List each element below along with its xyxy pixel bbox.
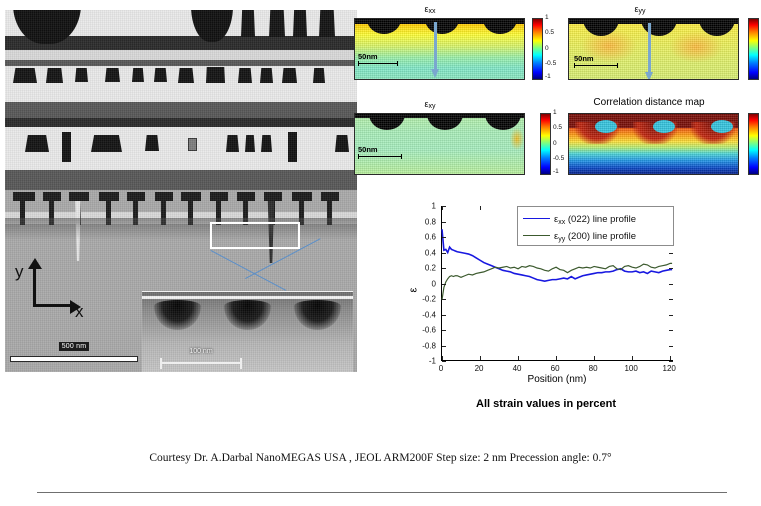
cb-tick: -0.5 bbox=[553, 155, 564, 162]
tem-via bbox=[46, 68, 63, 83]
scalebar-inset: 100 nm bbox=[160, 340, 242, 369]
tem-layer bbox=[5, 170, 357, 190]
x-tick-mark-top bbox=[480, 206, 481, 210]
tem-layer bbox=[5, 118, 357, 127]
map-title-correlation: Correlation distance map bbox=[560, 97, 738, 108]
y-tick-mark bbox=[442, 222, 446, 223]
eyy-scalebar-label: 50nm bbox=[574, 55, 618, 63]
y-tick-mark bbox=[442, 346, 446, 347]
y-tick-mark-right bbox=[669, 361, 673, 362]
y-tick-label: -0.6 bbox=[410, 326, 436, 335]
y-tick-mark bbox=[442, 361, 446, 362]
series-eyy-line bbox=[442, 263, 672, 299]
y-tick-mark-right bbox=[669, 330, 673, 331]
legend-eyy-text: (200) line profile bbox=[565, 231, 636, 242]
tem-via bbox=[206, 67, 225, 83]
legend-swatch-exx bbox=[523, 218, 550, 219]
exx-scalebar-label: 50nm bbox=[358, 53, 398, 61]
y-tick-mark bbox=[442, 237, 446, 238]
x-tick-label: 120 bbox=[663, 364, 676, 373]
legend-item-exx: εxx (022) line profile bbox=[523, 210, 636, 226]
y-tick-mark-right bbox=[669, 346, 673, 347]
y-tick-label: -0.4 bbox=[410, 310, 436, 319]
tem-via bbox=[91, 135, 122, 152]
y-tick-label: 0.6 bbox=[410, 233, 436, 242]
eyy-profile-arrow-icon bbox=[645, 23, 654, 80]
y-axis-arrow-icon bbox=[28, 258, 42, 269]
y-tick-mark-right bbox=[669, 268, 673, 269]
y-tick-mark-right bbox=[669, 315, 673, 316]
cb-tick: 1 bbox=[553, 109, 557, 116]
x-tick-mark bbox=[442, 356, 443, 360]
tem-contact bbox=[127, 192, 145, 201]
x-tick-mark bbox=[632, 356, 633, 360]
exy-noise bbox=[355, 114, 524, 174]
exy-scalebar-bar bbox=[358, 154, 402, 159]
tem-via bbox=[13, 68, 37, 83]
cb-tick: 0 bbox=[553, 140, 557, 147]
correlation-noise bbox=[569, 114, 738, 174]
tem-interface bbox=[5, 218, 357, 240]
legend-swatch-eyy bbox=[523, 235, 550, 236]
legend-exx-text: (022) line profile bbox=[565, 214, 636, 225]
colorbar-exy-ticks: 1 0.5 0 -0.5 -1 bbox=[553, 113, 569, 175]
tem-contact bbox=[264, 192, 282, 201]
inset-surface-line bbox=[142, 296, 353, 299]
tem-via bbox=[25, 135, 49, 152]
map-title-eyy: εyy bbox=[560, 4, 720, 15]
cb-tick: 0.5 bbox=[545, 29, 554, 36]
tem-contact bbox=[210, 192, 228, 201]
tem-via bbox=[245, 135, 255, 152]
tem-layer bbox=[5, 102, 357, 118]
tem-contact bbox=[69, 192, 89, 201]
map-title-eyy-subscript: yy bbox=[639, 8, 646, 15]
y-tick-mark bbox=[442, 268, 446, 269]
tem-via bbox=[105, 68, 120, 82]
x-tick-mark bbox=[480, 356, 481, 360]
x-tick-mark bbox=[556, 356, 557, 360]
tem-feature bbox=[293, 10, 307, 37]
cb-tick: 0.5 bbox=[553, 124, 562, 131]
y-axis-line bbox=[33, 266, 36, 306]
scalebar-main: 500 nm bbox=[10, 335, 138, 362]
map-title-exx-subscript: xx bbox=[429, 8, 436, 15]
tem-feature bbox=[269, 10, 285, 37]
cb-tick: -1 bbox=[553, 168, 559, 175]
tem-feature bbox=[319, 10, 335, 37]
strain-map-exy: 50nm bbox=[354, 113, 525, 175]
line-profile-chart: -1-0.8-0.6-0.4-0.200.20.40.60.81 0204060… bbox=[407, 198, 685, 393]
y-tick-mark bbox=[442, 253, 446, 254]
y-axis-title: ε bbox=[407, 288, 419, 293]
x-tick-label: 60 bbox=[551, 364, 560, 373]
tem-micrograph: 100 nm y x 500 nm bbox=[5, 10, 357, 372]
scalebar-inset-bar bbox=[160, 358, 242, 369]
x-tick-mark bbox=[594, 356, 595, 360]
tem-via bbox=[288, 132, 297, 162]
tem-contact bbox=[181, 192, 201, 201]
x-tick-mark bbox=[518, 356, 519, 360]
tem-via bbox=[282, 68, 297, 83]
y-tick-label: 0.2 bbox=[410, 264, 436, 273]
x-tick-label: 80 bbox=[589, 364, 598, 373]
tem-contact bbox=[43, 192, 61, 201]
cb-tick: -0.5 bbox=[545, 60, 556, 67]
roi-rectangle bbox=[210, 222, 300, 249]
strain-map-eyy: 50nm bbox=[568, 18, 739, 80]
map-title-exx: εxx bbox=[355, 4, 505, 15]
x-axis-title: Position (nm) bbox=[441, 374, 673, 385]
y-tick-label: -0.2 bbox=[410, 295, 436, 304]
colorbar-eyy bbox=[748, 18, 759, 80]
tem-layer bbox=[5, 50, 357, 60]
tem-contact bbox=[13, 192, 35, 201]
y-tick-mark bbox=[442, 284, 446, 285]
tem-via bbox=[75, 68, 88, 82]
tem-contact bbox=[155, 192, 173, 201]
scalebar-main-bar bbox=[10, 356, 138, 362]
tem-via bbox=[260, 68, 273, 83]
exy-scalebar: 50nm bbox=[358, 146, 402, 159]
tem-via bbox=[178, 68, 194, 83]
tem-layer bbox=[5, 127, 357, 170]
y-tick-label: 0.4 bbox=[410, 248, 436, 257]
y-tick-mark-right bbox=[669, 299, 673, 300]
tem-via bbox=[145, 135, 159, 151]
y-tick-label: 0.8 bbox=[410, 217, 436, 226]
colorbar-exy bbox=[540, 113, 551, 175]
y-tick-label: -0.8 bbox=[410, 341, 436, 350]
tem-contact bbox=[237, 192, 255, 201]
tem-via bbox=[62, 132, 71, 162]
footer-divider bbox=[37, 492, 727, 493]
x-tick-label: 40 bbox=[513, 364, 522, 373]
tem-via bbox=[154, 68, 167, 82]
eyy-scalebar-bar bbox=[574, 63, 618, 68]
x-tick-mark-top bbox=[442, 206, 443, 210]
legend-item-eyy: εyy (200) line profile bbox=[523, 227, 636, 243]
scalebar-inset-label: 100 nm bbox=[189, 347, 212, 356]
y-tick-mark bbox=[442, 330, 446, 331]
cb-tick: 1 bbox=[545, 14, 549, 21]
colorbar-exx bbox=[532, 18, 543, 80]
y-tick-label: 1 bbox=[410, 202, 436, 211]
exx-scalebar-bar bbox=[358, 61, 398, 66]
tem-via bbox=[226, 135, 239, 152]
x-tick-label: 100 bbox=[624, 364, 637, 373]
y-tick-mark bbox=[442, 299, 446, 300]
colorbar-correlation bbox=[748, 113, 759, 175]
x-tick-mark bbox=[670, 356, 671, 360]
tem-feature bbox=[241, 10, 255, 37]
exx-profile-arrow-icon bbox=[431, 22, 440, 78]
y-tick-mark-right bbox=[669, 253, 673, 254]
tem-contact bbox=[99, 192, 119, 201]
chart-legend: εxx (022) line profile εyy (200) line pr… bbox=[517, 206, 674, 246]
scalebar-main-label: 500 nm bbox=[59, 342, 90, 351]
tem-via bbox=[313, 68, 325, 83]
map-title-exy: εxy bbox=[355, 99, 505, 110]
tem-via bbox=[261, 135, 272, 152]
strain-map-correlation bbox=[568, 113, 739, 175]
y-tick-mark-right bbox=[669, 284, 673, 285]
x-axis-label: x bbox=[75, 302, 84, 322]
y-axis-label: y bbox=[15, 262, 24, 282]
y-tick-mark bbox=[442, 315, 446, 316]
slide-caption: Courtesy Dr. A.Darbal NanoMEGAS USA , JE… bbox=[0, 452, 761, 464]
exx-scalebar: 50nm bbox=[358, 53, 398, 66]
tem-zoom-inset: 100 nm bbox=[142, 291, 353, 372]
cb-tick: -1 bbox=[545, 73, 551, 80]
x-axis-line bbox=[33, 304, 75, 307]
orientation-axes: y x bbox=[15, 260, 85, 322]
tem-via bbox=[335, 135, 349, 152]
eyy-scalebar: 50nm bbox=[574, 55, 618, 68]
tem-contact bbox=[292, 192, 312, 201]
strain-units-note: All strain values in percent bbox=[407, 398, 685, 410]
map-title-exy-subscript: xy bbox=[429, 103, 436, 110]
exy-scalebar-label: 50nm bbox=[358, 146, 402, 154]
tem-contact bbox=[321, 192, 339, 201]
tem-via bbox=[238, 68, 252, 83]
tem-via bbox=[132, 68, 144, 82]
x-tick-label: 0 bbox=[439, 364, 443, 373]
x-tick-label: 20 bbox=[475, 364, 484, 373]
tem-via bbox=[188, 138, 197, 151]
y-tick-label: -1 bbox=[410, 357, 436, 366]
colorbar-exx-ticks: 1 0.5 0 -0.5 -1 bbox=[545, 18, 561, 80]
cb-tick: 0 bbox=[545, 45, 549, 52]
strain-map-exx: 50nm bbox=[354, 18, 525, 80]
